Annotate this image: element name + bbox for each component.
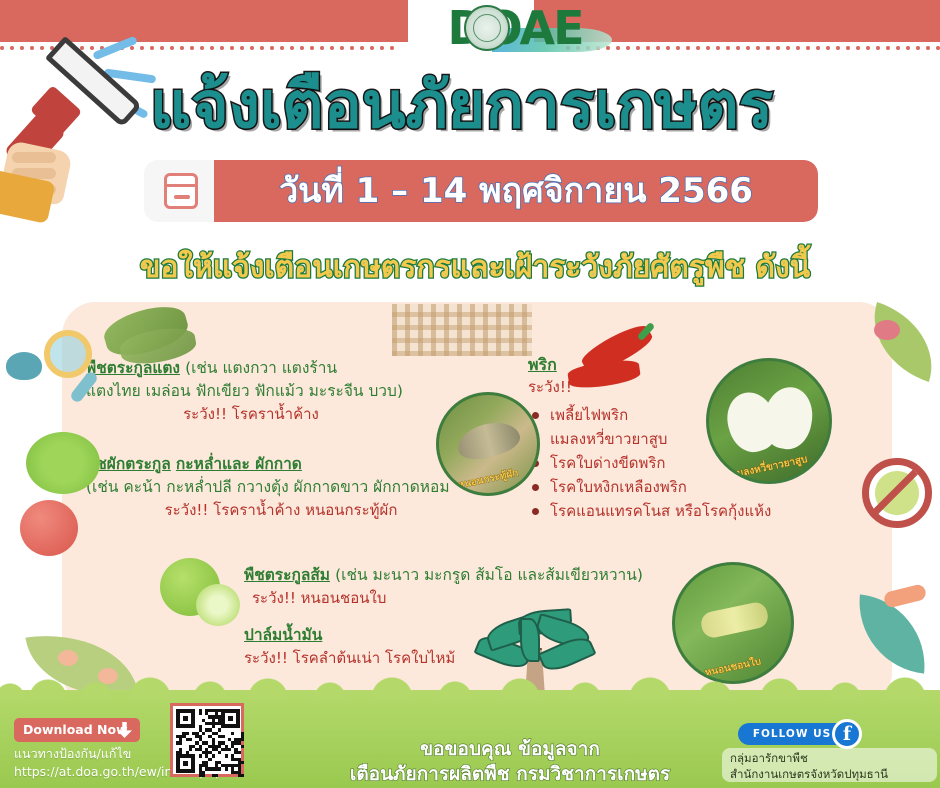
lime-slice-icon bbox=[196, 584, 240, 626]
guideline-link[interactable]: https://at.doa.go.th/ew/index.php bbox=[14, 763, 314, 781]
cucurbit-warning: ระวัง!! โรคราน้ำค้าง bbox=[86, 403, 416, 426]
guideline-line-1: แนวทางป้องกัน/แก้ไข bbox=[14, 745, 314, 763]
beetle-icon bbox=[6, 352, 42, 380]
credit-line-1: ขอขอบคุณ ข้อมูลจาก bbox=[300, 737, 720, 762]
photo-whitefly: แมลงหวี่ขาวยาสูบ bbox=[706, 358, 832, 484]
brassica-title-2: กะหล่ำและ ผักกาด bbox=[176, 455, 302, 473]
download-now-label: Download Now bbox=[23, 722, 128, 737]
citrus-examples: (เช่น มะนาว มะกรูด ส้มโอ และส้มเขียวหวาน… bbox=[335, 566, 643, 584]
org-line-2: สำนักงานเกษตรจังหวัดปทุมธานี bbox=[730, 766, 940, 782]
magnifier-icon bbox=[44, 330, 92, 378]
citrus-warning: ระวัง!! หนอนชอนใบ bbox=[244, 587, 704, 610]
lettuce-icon bbox=[26, 432, 100, 494]
credit-line-2: เตือนภัยการผลิตพืช กรมวิชาการเกษตร bbox=[300, 762, 720, 787]
section-cucurbit: พืชตระกูลแตง (เช่น แตงกวา แตงร้าน แตงไทย… bbox=[86, 356, 486, 426]
section-citrus: พืชตระกูลส้ม (เช่น มะนาว มะกรูด ส้มโอ แล… bbox=[244, 563, 704, 610]
poster-root: DOAE แจ้งเตือนภัยการเกษตร วันที่ 1 – 14 … bbox=[0, 0, 940, 788]
credit-block: ขอขอบคุณ ข้อมูลจาก เตือนภัยการผลิตพืช กร… bbox=[300, 737, 720, 787]
page-title: แจ้งเตือนภัยการเกษตร bbox=[150, 60, 940, 152]
org-text: กลุ่มอารักขาพืช สำนักงานเกษตรจังหวัดปทุม… bbox=[730, 750, 940, 782]
qr-code[interactable] bbox=[170, 703, 244, 777]
photo-armyworm: หนอนกระทู้ผัก bbox=[436, 392, 540, 496]
ladybug-icon bbox=[874, 320, 900, 340]
date-label: วันที่ 1 – 14 พฤศจิกายน 2566 bbox=[214, 160, 818, 222]
no-virus-icon bbox=[862, 458, 932, 528]
doae-logo: DOAE bbox=[412, 2, 618, 54]
grass-edge bbox=[0, 672, 940, 698]
pest-on-leaf-icon bbox=[58, 650, 78, 666]
photo-leafminer: หนอนชอนใบ bbox=[672, 562, 794, 684]
citrus-title: พืชตระกูลส้ม bbox=[244, 566, 330, 584]
brassica-warning: ระวัง!! โรคราน้ำค้าง หนอนกระทู้ผัก bbox=[86, 499, 476, 522]
cucurbit-examples-1: (เช่น แตงกวา แตงร้าน bbox=[185, 359, 337, 377]
guideline-text: แนวทางป้องกัน/แก้ไข https://at.doa.go.th… bbox=[14, 745, 314, 781]
org-line-1: กลุ่มอารักขาพืช bbox=[730, 750, 940, 766]
chili-pest-item: โรคแอนแทรคโนส หรือโรคกุ้งแห้ง bbox=[528, 499, 838, 523]
download-now-button[interactable]: Download Now bbox=[14, 718, 140, 742]
doae-seal-icon bbox=[464, 5, 510, 51]
cucurbit-examples-2: แตงไทย เมล่อน ฟักเขียว ฟักแม้ว มะระจีน บ… bbox=[86, 380, 486, 403]
plaid-decor bbox=[392, 304, 532, 356]
facebook-icon[interactable]: f bbox=[832, 719, 862, 749]
calendar-icon bbox=[164, 173, 198, 209]
facebook-f-glyph: f bbox=[835, 722, 859, 746]
damaged-tomato-icon bbox=[20, 500, 78, 556]
date-banner: วันที่ 1 – 14 พฤศจิกายน 2566 bbox=[144, 160, 818, 222]
follow-us-button[interactable]: FOLLOW US bbox=[738, 723, 846, 745]
subheading: ขอให้แจ้งเตือนเกษตรกรและเฝ้าระวังภัยศัตร… bbox=[40, 240, 910, 296]
